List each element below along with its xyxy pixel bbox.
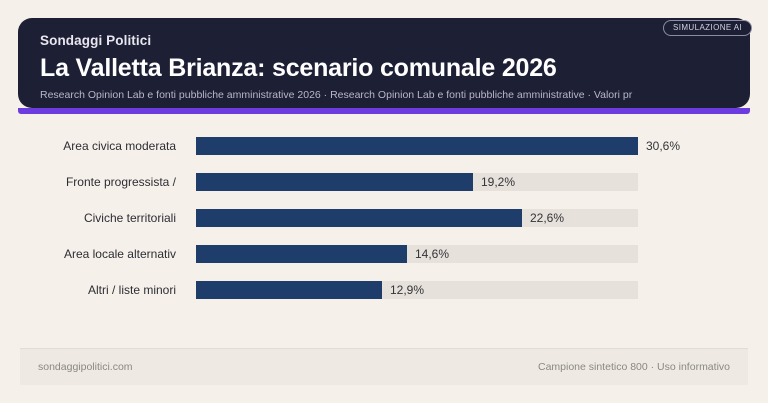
footer-source: sondaggipolitici.com <box>38 361 133 373</box>
bar-track <box>196 209 638 227</box>
bar-label: Area locale alternativ <box>30 236 176 272</box>
header-subtitle: Research Opinion Lab e fonti pubbliche a… <box>40 88 728 102</box>
bar-chart: Area civica moderata30,6%Fronte progress… <box>18 128 750 308</box>
bar-row: Area civica moderata30,6% <box>18 128 750 164</box>
bar-value: 22,6% <box>530 209 564 227</box>
bar-value: 14,6% <box>415 245 449 263</box>
bar-label: Area civica moderata <box>30 128 176 164</box>
bar-label: Civiche territoriali <box>30 200 176 236</box>
bar-value: 30,6% <box>646 137 680 155</box>
bar-value: 12,9% <box>390 281 424 299</box>
bar-track <box>196 173 638 191</box>
bar-fill <box>196 137 638 155</box>
bar-value: 19,2% <box>481 173 515 191</box>
bar-label: Altri / liste minori <box>30 272 176 308</box>
bar-fill <box>196 173 473 191</box>
header-card: Sondaggi Politici La Valletta Brianza: s… <box>18 18 750 108</box>
bar-row: Altri / liste minori12,9% <box>18 272 750 308</box>
header-kicker: Sondaggi Politici <box>40 32 728 49</box>
status-badge: SIMULAZIONE AI <box>663 20 752 36</box>
accent-bar <box>18 108 750 114</box>
page-title: La Valletta Brianza: scenario comunale 2… <box>40 52 728 84</box>
bar-fill <box>196 209 522 227</box>
footer-note: Campione sintetico 800 · Uso informativo <box>538 361 730 373</box>
footer: sondaggipolitici.com Campione sintetico … <box>20 348 748 385</box>
bar-track <box>196 137 638 155</box>
bar-label: Fronte progressista / <box>30 164 176 200</box>
bar-row: Fronte progressista /19,2% <box>18 164 750 200</box>
bar-fill <box>196 281 382 299</box>
bar-fill <box>196 245 407 263</box>
bar-row: Civiche territoriali22,6% <box>18 200 750 236</box>
bar-row: Area locale alternativ14,6% <box>18 236 750 272</box>
